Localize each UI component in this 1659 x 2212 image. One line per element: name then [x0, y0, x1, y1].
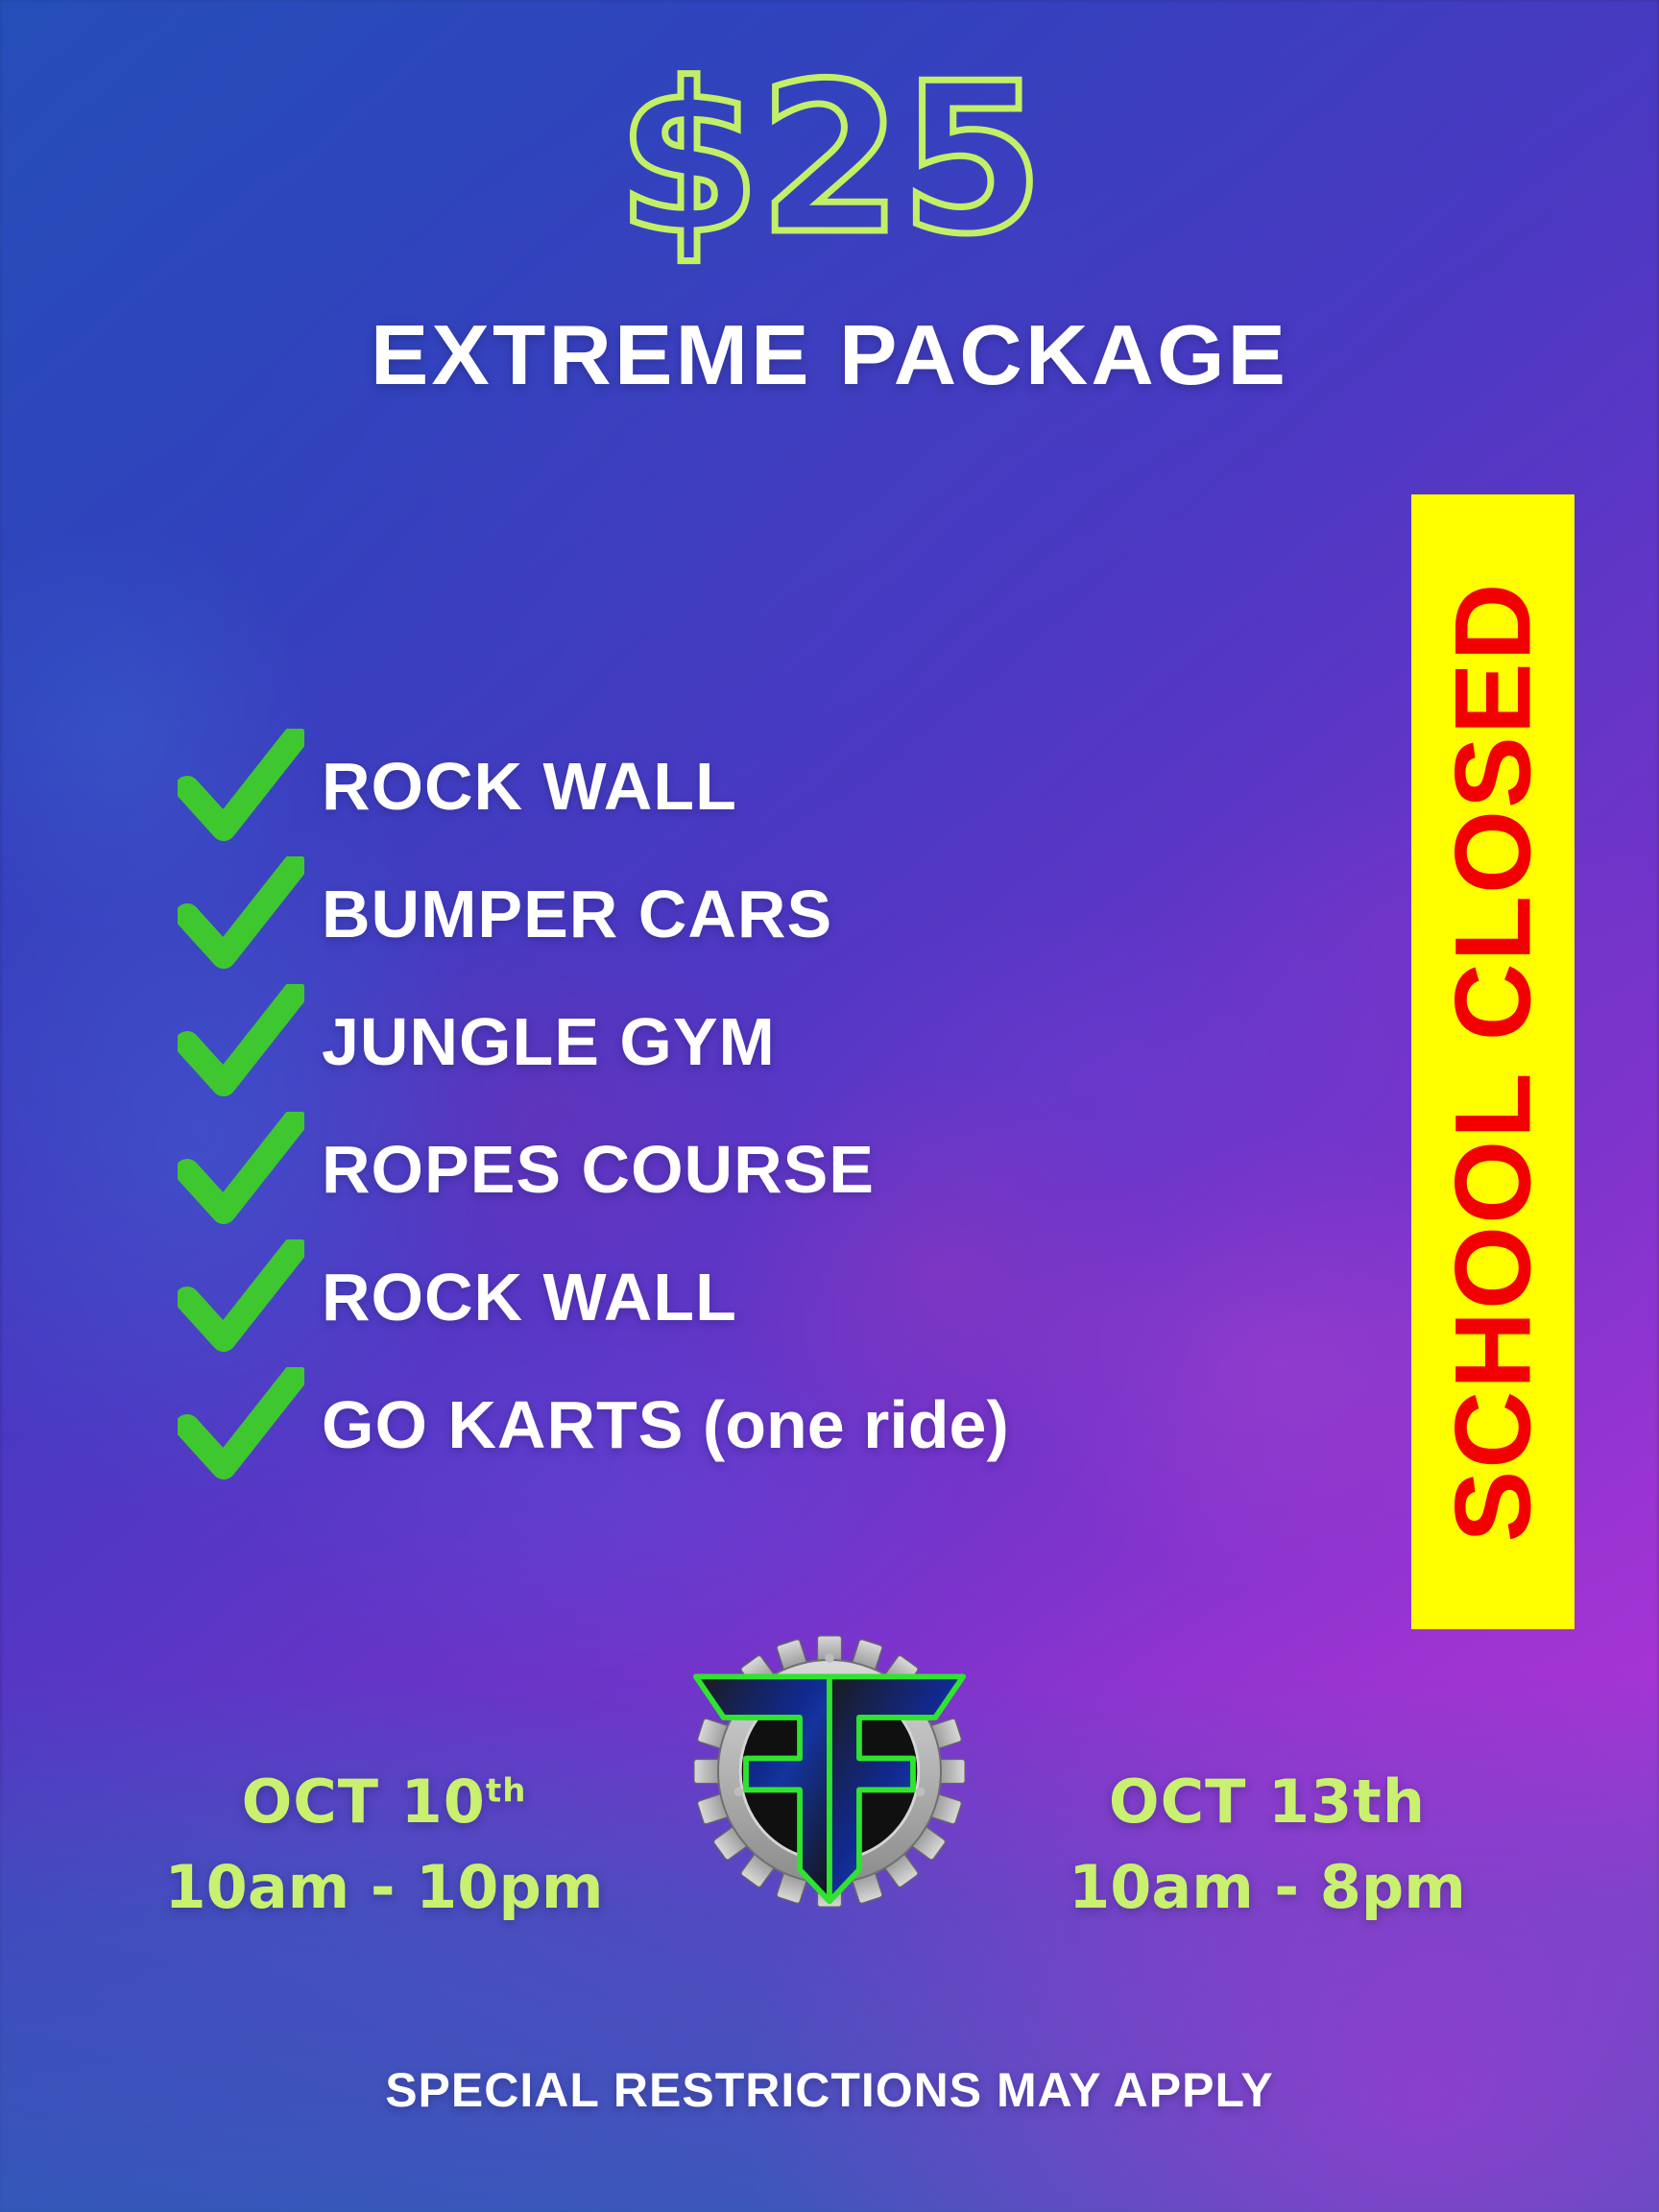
list-item: ROCK WALL: [178, 722, 1009, 850]
check-icon: [178, 856, 304, 972]
list-item-label: ROCK WALL: [322, 1259, 737, 1335]
check-icon: [178, 984, 304, 1099]
list-item: GO KARTS (one ride): [178, 1360, 1009, 1488]
list-item: ROCK WALL: [178, 1233, 1009, 1360]
event-date-day: OCT 13th: [998, 1767, 1536, 1837]
event-date-hours: 10am - 10pm: [115, 1852, 653, 1922]
list-item-label: JUNGLE GYM: [322, 1003, 776, 1080]
school-closed-banner: SCHOOL CLOSED: [1411, 494, 1575, 1629]
check-icon: [178, 1112, 304, 1227]
gear-logo: [690, 1632, 969, 1911]
check-icon: [178, 1239, 304, 1355]
event-date-hours: 10am - 8pm: [998, 1852, 1536, 1922]
package-title: EXTREME PACKAGE: [0, 313, 1659, 397]
event-date-right: OCT 13th 10am - 8pm: [998, 1767, 1536, 1922]
list-item-label: GO KARTS (one ride): [322, 1386, 1009, 1463]
check-icon: [178, 1367, 304, 1482]
price-headline: $25: [0, 56, 1659, 262]
included-activities-list: ROCK WALL BUMPER CARS JUNGLE GYM ROPES C…: [178, 722, 1009, 1488]
promo-flyer: $25 EXTREME PACKAGE ROCK WALL BUMPER CAR…: [0, 0, 1659, 2212]
list-item-label: ROCK WALL: [322, 748, 737, 825]
list-item-label: ROPES COURSE: [322, 1131, 875, 1208]
school-closed-label: SCHOOL CLOSED: [1439, 582, 1547, 1543]
check-icon: [178, 729, 304, 844]
list-item: JUNGLE GYM: [178, 977, 1009, 1105]
restrictions-note: SPECIAL RESTRICTIONS MAY APPLY: [0, 2062, 1659, 2118]
list-item: BUMPER CARS: [178, 850, 1009, 977]
list-item-label: BUMPER CARS: [322, 876, 832, 952]
list-item: ROPES COURSE: [178, 1105, 1009, 1233]
event-date-left: OCT 10th 10am - 10pm: [115, 1767, 653, 1922]
event-date-day: OCT 10th: [115, 1767, 653, 1837]
